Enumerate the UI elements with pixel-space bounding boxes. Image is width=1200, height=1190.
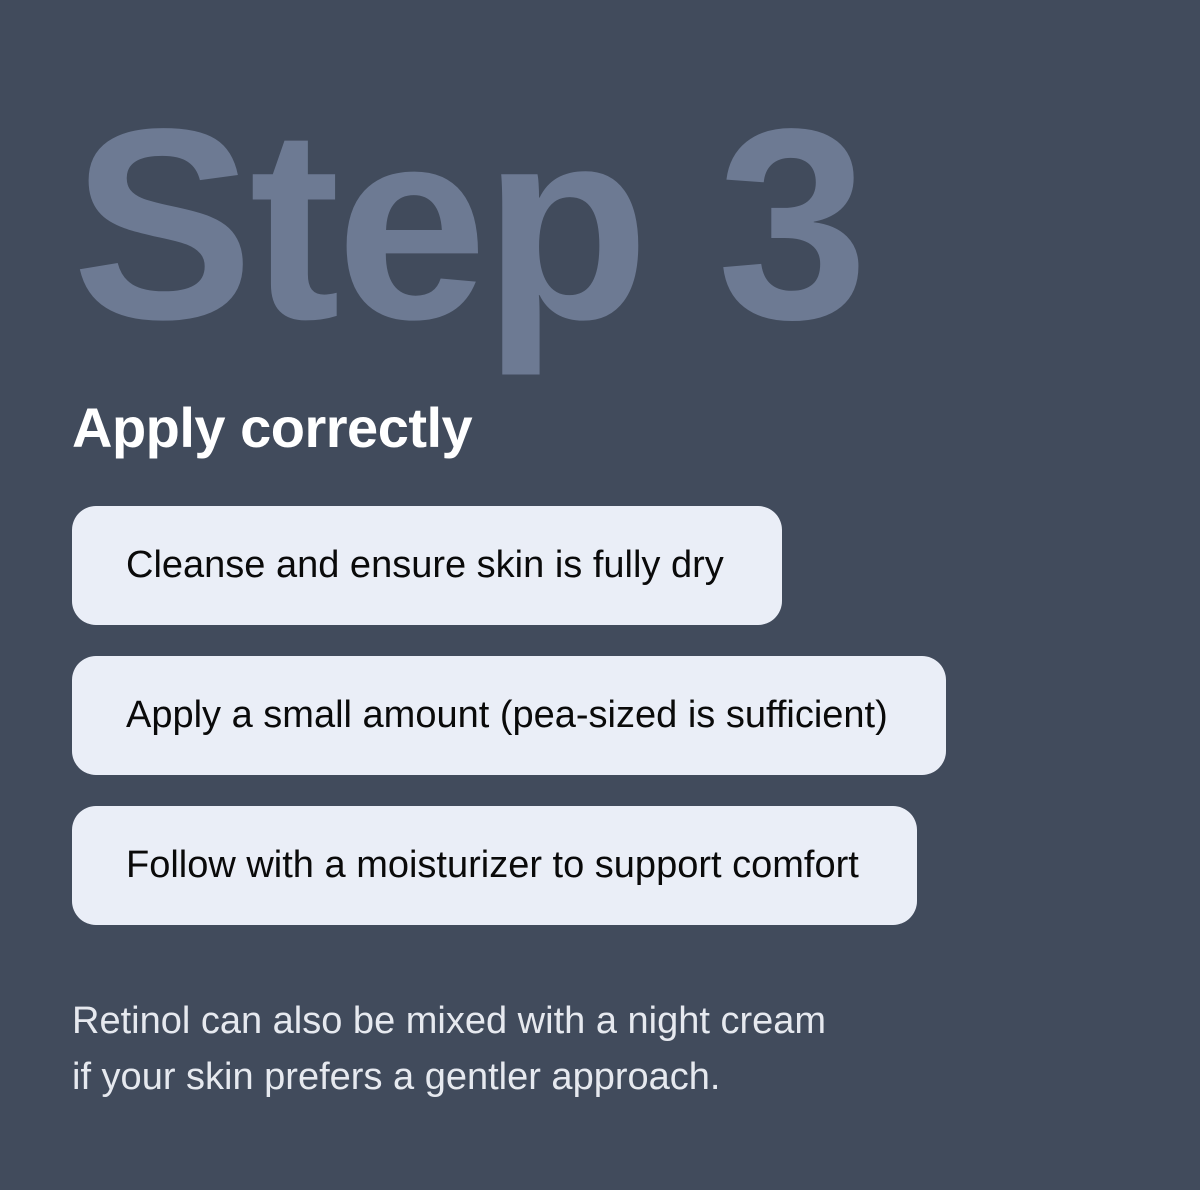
instruction-list: Cleanse and ensure skin is fully dry App… (72, 506, 946, 925)
list-item: Follow with a moisturizer to support com… (72, 806, 917, 925)
list-item: Cleanse and ensure skin is fully dry (72, 506, 782, 625)
step-number-eyebrow: Step 3 (72, 88, 864, 360)
list-item: Apply a small amount (pea-sized is suffi… (72, 656, 946, 775)
footnote-line-2: if your skin prefers a gentler approach. (72, 1049, 826, 1105)
page-title: Apply correctly (72, 400, 472, 456)
footnote-line-1: Retinol can also be mixed with a night c… (72, 993, 826, 1049)
step-card-slide: Step 3 Apply correctly Cleanse and ensur… (0, 0, 1200, 1190)
instruction-label: Follow with a moisturizer to support com… (126, 843, 859, 889)
footnote: Retinol can also be mixed with a night c… (72, 993, 826, 1105)
instruction-label: Cleanse and ensure skin is fully dry (126, 543, 724, 589)
instruction-label: Apply a small amount (pea-sized is suffi… (126, 693, 888, 739)
